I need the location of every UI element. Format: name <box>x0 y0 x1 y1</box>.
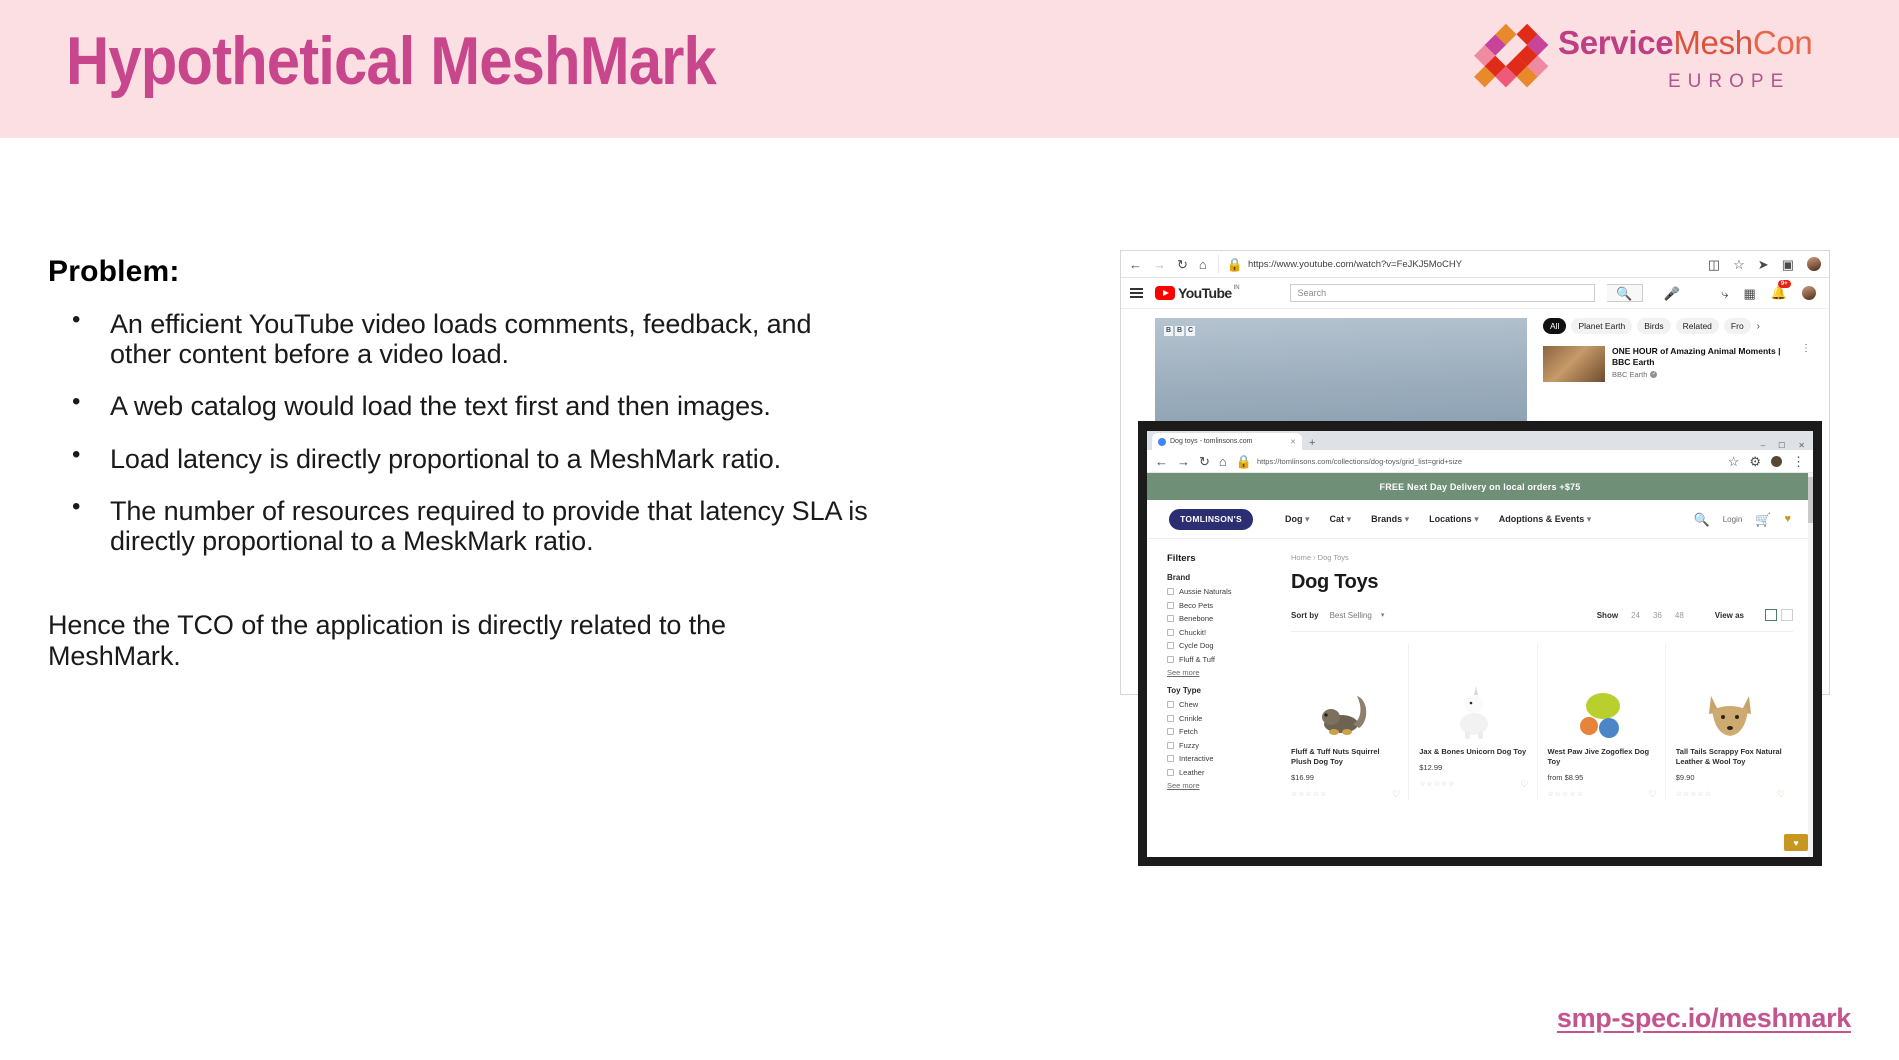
channel-name: BBC Earth <box>1612 370 1647 379</box>
checkbox[interactable] <box>1167 742 1174 749</box>
logo-text-service: Service <box>1558 24 1673 61</box>
youtube-play-icon <box>1155 286 1175 300</box>
show-option-24[interactable]: 24 <box>1631 611 1640 620</box>
see-more-brands-link[interactable]: See more <box>1167 668 1279 677</box>
product-price: $9.90 <box>1676 773 1785 782</box>
filter-label: Benebone <box>1179 614 1213 623</box>
grid-view-icon[interactable] <box>1765 609 1777 621</box>
chevron-down-icon: ▾ <box>1474 514 1479 524</box>
site-nav-actions: 🔍 Login 🛒 ♥ <box>1694 513 1791 526</box>
filter-label: Chew <box>1179 700 1198 709</box>
checkbox[interactable] <box>1167 728 1174 735</box>
video-meta: ONE HOUR of Amazing Animal Moments | BBC… <box>1612 346 1794 382</box>
chip-from[interactable]: Fro <box>1724 318 1751 334</box>
show-count-group: Show 24 36 48 View as <box>1597 609 1793 621</box>
filters-heading: Filters <box>1167 553 1279 564</box>
checkbox[interactable] <box>1167 642 1174 649</box>
checkbox[interactable] <box>1167 615 1174 622</box>
checkbox[interactable] <box>1167 602 1174 609</box>
browser-toolbar-actions: ◫ ☆ ➤ ▣ <box>1708 257 1821 271</box>
chip-planet-earth[interactable]: Planet Earth <box>1571 318 1632 334</box>
chevron-right-icon[interactable]: › <box>1757 321 1760 332</box>
youtube-logo[interactable]: YouTube IN <box>1155 285 1240 301</box>
address-bar-url: https://www.youtube.com/watch?v=FeJKJ5Mo… <box>1248 259 1462 270</box>
favorites-icon[interactable]: ➤ <box>1758 258 1769 271</box>
watermark-letter: B <box>1164 326 1173 336</box>
nav-item-brands[interactable]: Brands ▾ <box>1371 514 1409 525</box>
collections-icon[interactable]: ☆ <box>1733 258 1745 271</box>
filter-label: Fetch <box>1179 727 1198 736</box>
list-item: A web catalog would load the text first … <box>48 391 868 421</box>
nav-item-adoptions-events[interactable]: Adoptions & Events ▾ <box>1499 514 1592 525</box>
address-bar[interactable]: 🔒 https://www.youtube.com/watch?v=FeJKJ5… <box>1218 255 1697 273</box>
product-footer: ☆☆☆☆☆ ♡ <box>1291 789 1400 800</box>
filter-label: Cycle Dog <box>1179 641 1214 650</box>
browser-tab-strip: Dog toys - tomlinsons.com ✕ + – ☐ ✕ <box>1147 431 1813 450</box>
search-icon: 🔍 <box>1616 287 1632 300</box>
avatar[interactable] <box>1802 286 1816 300</box>
product-card[interactable]: West Paw Jive Zogoflex Dog Toy from $8.9… <box>1548 644 1666 800</box>
view-toggle-group <box>1765 609 1793 621</box>
wishlist-heart-icon[interactable]: ♡ <box>1649 789 1657 800</box>
reload-icon[interactable]: ↻ <box>1177 258 1188 271</box>
extensions-icon[interactable]: ⚙ <box>1749 455 1761 468</box>
nav-item-dog[interactable]: Dog ▾ <box>1285 514 1310 525</box>
filter-label: Interactive <box>1179 754 1214 763</box>
product-image <box>1291 644 1400 740</box>
sort-by-select[interactable]: Best Selling <box>1330 611 1372 620</box>
filter-label: Chuckit! <box>1179 628 1206 637</box>
logo-text-mesh: Mesh <box>1673 24 1753 61</box>
verified-badge-icon: ✓ <box>1650 371 1657 378</box>
lock-icon: 🔒 <box>1227 258 1243 271</box>
filter-option[interactable]: Cycle Dog <box>1167 641 1279 650</box>
list-item[interactable]: ONE HOUR of Amazing Animal Moments | BBC… <box>1543 346 1811 382</box>
extensions-icon[interactable]: ▣ <box>1782 258 1794 271</box>
new-tab-icon[interactable]: + <box>1309 437 1315 449</box>
list-item: An efficient YouTube video loads comment… <box>48 309 868 369</box>
product-footer: ☆☆☆☆☆ ♡ <box>1548 789 1657 800</box>
reload-icon[interactable]: ↻ <box>1199 455 1210 468</box>
checkbox[interactable] <box>1167 588 1174 595</box>
catalog-toolbar: Sort by Best Selling ▾ Show 24 36 48 Vie… <box>1291 609 1793 632</box>
nav-label: Cat <box>1330 514 1345 524</box>
filters-sidebar: Filters Brand Aussie Naturals Beco Pets … <box>1167 553 1279 800</box>
checkbox[interactable] <box>1167 656 1174 663</box>
checkbox[interactable] <box>1167 701 1174 708</box>
video-title: ONE HOUR of Amazing Animal Moments | BBC… <box>1612 346 1794 367</box>
tab-favicon-icon <box>1158 438 1166 446</box>
filter-chip-row: All Planet Earth Birds Related Fro › <box>1543 318 1811 334</box>
tomlinsons-browser-window: Dog toys - tomlinsons.com ✕ + – ☐ ✕ ← → … <box>1138 421 1822 866</box>
rating-stars-icon: ☆☆☆☆☆ <box>1676 790 1712 798</box>
filter-option[interactable]: Aussie Naturals <box>1167 587 1279 596</box>
squirrel-plush-toy-icon <box>1317 684 1375 740</box>
forward-icon[interactable]: → <box>1153 258 1166 271</box>
breadcrumb: Home › Dog Toys <box>1291 553 1793 562</box>
lock-icon: 🔒 <box>1236 455 1252 468</box>
filter-label: Beco Pets <box>1179 601 1213 610</box>
chevron-down-icon: ▾ <box>1405 514 1410 524</box>
back-icon[interactable]: ← <box>1155 455 1168 468</box>
unicorn-plush-toy-icon <box>1445 684 1503 740</box>
chip-related[interactable]: Related <box>1676 318 1719 334</box>
filter-label: Crinkle <box>1179 714 1202 723</box>
wishlist-floating-button[interactable]: ♥ <box>1784 834 1808 851</box>
bookmark-star-icon[interactable]: ☆ <box>1728 455 1740 468</box>
back-icon[interactable]: ← <box>1129 258 1142 271</box>
chevron-down-icon[interactable]: ▾ <box>1381 611 1385 619</box>
nav-label: Locations <box>1429 514 1472 524</box>
wishlist-heart-icon[interactable]: ♥ <box>1784 513 1791 525</box>
browser-tab[interactable]: Dog toys - tomlinsons.com ✕ <box>1152 433 1302 450</box>
profile-avatar[interactable] <box>1807 257 1821 271</box>
product-card[interactable]: Tall Tails Scrappy Fox Natural Leather &… <box>1676 644 1793 800</box>
sort-by-label: Sort by <box>1291 611 1319 620</box>
nav-items: Dog ▾ Cat ▾ Brands ▾ Locations ▾ Adoptio… <box>1285 514 1591 525</box>
filter-label: Fluff & Tuff <box>1179 655 1215 664</box>
nav-label: Brands <box>1371 514 1402 524</box>
filter-option[interactable]: Chew <box>1167 700 1279 709</box>
filter-option[interactable]: Leather <box>1167 768 1279 777</box>
scrollbar-thumb[interactable] <box>1808 477 1813 523</box>
youtube-account-actions: ⤷ ▦ 🔔 9+ <box>1721 284 1820 302</box>
catalog-title: Dog Toys <box>1291 571 1793 594</box>
product-name: Tall Tails Scrappy Fox Natural Leather &… <box>1676 747 1785 767</box>
logo-region-label: EUROPE <box>1668 71 1790 93</box>
chevron-down-icon: ▾ <box>1305 514 1310 524</box>
checkbox[interactable] <box>1167 715 1174 722</box>
tomlinsons-logo[interactable]: TOMLINSON'S <box>1169 509 1253 530</box>
filter-option[interactable]: Fuzzy <box>1167 741 1279 750</box>
browser-toolbar-actions: ☆ ⚙ ⋮ <box>1728 455 1805 468</box>
catalog-main: Home › Dog Toys Dog Toys Sort by Best Se… <box>1279 553 1793 800</box>
scrollbar[interactable] <box>1808 473 1813 857</box>
login-link[interactable]: Login <box>1723 515 1743 524</box>
filter-option[interactable]: Chuckit! <box>1167 628 1279 637</box>
split-screen-icon[interactable]: ◫ <box>1708 258 1720 271</box>
see-more-toytypes-link[interactable]: See more <box>1167 781 1279 790</box>
nav-label: Adoptions & Events <box>1499 514 1585 524</box>
product-card[interactable]: Jax & Bones Unicorn Dog Toy $12.99 ☆☆☆☆☆… <box>1419 644 1537 800</box>
product-name: Fluff & Tuff Nuts Squirrel Plush Dog Toy <box>1291 747 1400 767</box>
show-option-48[interactable]: 48 <box>1675 611 1684 620</box>
search-button[interactable]: 🔍 <box>1607 284 1643 302</box>
wishlist-heart-icon[interactable]: ♡ <box>1392 789 1400 800</box>
zogoflex-ball-toy-icon <box>1573 684 1631 740</box>
close-window-icon[interactable]: ✕ <box>1798 441 1805 450</box>
show-label: Show <box>1597 611 1618 620</box>
tomlinsons-browser-viewport: Dog toys - tomlinsons.com ✕ + – ☐ ✕ ← → … <box>1147 431 1813 857</box>
filter-label: Leather <box>1179 768 1204 777</box>
filter-option[interactable]: Crinkle <box>1167 714 1279 723</box>
product-name: Jax & Bones Unicorn Dog Toy <box>1419 747 1528 757</box>
profile-avatar[interactable] <box>1771 456 1782 467</box>
address-bar[interactable]: 🔒 https://tomlinsons.com/collections/dog… <box>1236 454 1719 469</box>
problem-bullet-list: An efficient YouTube video loads comment… <box>48 309 868 556</box>
minimize-icon[interactable]: – <box>1761 441 1765 450</box>
product-image <box>1676 644 1785 740</box>
browser-tab-title: Dog toys - tomlinsons.com <box>1170 438 1252 445</box>
list-item: Load latency is directly proportional to… <box>48 444 868 474</box>
voice-search-icon[interactable]: 🎤 <box>1664 287 1680 300</box>
window-controls: – ☐ ✕ <box>1761 441 1813 450</box>
chip-birds[interactable]: Birds <box>1637 318 1670 334</box>
bbc-watermark-icon: B B C <box>1164 326 1195 336</box>
product-price: $16.99 <box>1291 773 1400 782</box>
filter-group-toytype-title: Toy Type <box>1167 686 1279 695</box>
browser-menu-icon[interactable]: ⋮ <box>1792 455 1805 468</box>
search-icon[interactable]: 🔍 <box>1694 513 1710 526</box>
nav-item-locations[interactable]: Locations ▾ <box>1429 514 1479 525</box>
rating-stars-icon: ☆☆☆☆☆ <box>1548 790 1584 798</box>
product-footer: ☆☆☆☆☆ ♡ <box>1419 779 1528 790</box>
product-footer: ☆☆☆☆☆ ♡ <box>1676 789 1785 800</box>
cart-icon[interactable]: 🛒 <box>1755 513 1771 526</box>
watermark-letter: B <box>1175 326 1184 336</box>
product-image <box>1548 644 1657 740</box>
wishlist-heart-icon[interactable]: ♡ <box>1520 779 1528 790</box>
close-icon[interactable]: ✕ <box>1290 438 1296 446</box>
address-bar-url: https://tomlinsons.com/collections/dog-t… <box>1257 457 1462 466</box>
rating-stars-icon: ☆☆☆☆☆ <box>1419 780 1455 788</box>
chevron-down-icon: ▾ <box>1347 514 1352 524</box>
nav-item-cat[interactable]: Cat ▾ <box>1330 514 1352 525</box>
slide-body: Problem: An efficient YouTube video load… <box>48 255 868 671</box>
chip-all[interactable]: All <box>1543 318 1566 334</box>
rating-stars-icon: ☆☆☆☆☆ <box>1291 790 1327 798</box>
logo-wordmark: ServiceMeshCon <box>1558 24 1812 62</box>
servicemeshcon-logo: ServiceMeshCon EUROPE <box>1462 8 1882 120</box>
wishlist-heart-icon[interactable]: ♡ <box>1777 789 1785 800</box>
page-title: Hypothetical MeshMark <box>66 22 716 100</box>
product-image <box>1419 644 1528 740</box>
show-option-36[interactable]: 36 <box>1653 611 1662 620</box>
youtube-country-code: IN <box>1234 285 1240 291</box>
notifications-button[interactable]: 🔔 9+ <box>1771 284 1787 302</box>
checkbox[interactable] <box>1167 769 1174 776</box>
checkbox[interactable] <box>1167 755 1174 762</box>
hamburger-menu-icon[interactable] <box>1130 288 1143 298</box>
chevron-down-icon: ▾ <box>1587 514 1592 524</box>
site-navigation: TOMLINSON'S Dog ▾ Cat ▾ Brands ▾ Locatio… <box>1147 500 1813 539</box>
servicemeshcon-diamond-icon <box>1462 14 1554 100</box>
filter-option[interactable]: Beco Pets <box>1167 601 1279 610</box>
filter-label: Aussie Naturals <box>1179 587 1232 596</box>
filter-option[interactable]: Fetch <box>1167 727 1279 736</box>
home-icon[interactable]: ⌂ <box>1199 258 1207 271</box>
more-options-icon[interactable]: ⋮ <box>1801 346 1811 382</box>
list-view-icon[interactable] <box>1781 609 1793 621</box>
apps-grid-icon[interactable]: ▦ <box>1744 287 1756 300</box>
logo-text-con: Con <box>1753 24 1813 61</box>
product-name: West Paw Jive Zogoflex Dog Toy <box>1548 747 1657 767</box>
fox-leather-toy-icon <box>1701 684 1759 740</box>
create-video-icon[interactable]: ⤷ <box>1721 287 1728 300</box>
view-as-label: View as <box>1715 611 1744 620</box>
youtube-masthead: YouTube IN Search 🔍 🎤 ⤷ ▦ 🔔 9+ <box>1121 278 1829 309</box>
problem-heading: Problem: <box>48 255 868 289</box>
video-thumbnail <box>1543 346 1605 382</box>
checkbox[interactable] <box>1167 629 1174 636</box>
filter-option[interactable]: Interactive <box>1167 754 1279 763</box>
filter-option[interactable]: Benebone <box>1167 614 1279 623</box>
filter-group-brand-title: Brand <box>1167 573 1279 582</box>
meshmark-spec-link[interactable]: smp-spec.io/meshmark <box>1557 1003 1851 1034</box>
tomlinsons-browser-toolbar: ← → ↻ ⌂ 🔒 https://tomlinsons.com/collect… <box>1147 450 1813 473</box>
nav-label: Dog <box>1285 514 1303 524</box>
catalog-page: Filters Brand Aussie Naturals Beco Pets … <box>1147 539 1813 800</box>
filter-label: Fuzzy <box>1179 741 1199 750</box>
notification-count-badge: 9+ <box>1778 280 1791 288</box>
product-grid: Fluff & Tuff Nuts Squirrel Plush Dog Toy… <box>1291 644 1793 800</box>
promo-banner: FREE Next Day Delivery on local orders +… <box>1147 473 1813 500</box>
list-item: The number of resources required to prov… <box>48 496 868 556</box>
closing-paragraph: Hence the TCO of the application is dire… <box>48 610 808 670</box>
youtube-browser-toolbar: ← → ↻ ⌂ 🔒 https://www.youtube.com/watch?… <box>1121 251 1829 278</box>
maximize-icon[interactable]: ☐ <box>1778 441 1785 450</box>
product-card[interactable]: Fluff & Tuff Nuts Squirrel Plush Dog Toy… <box>1291 644 1409 800</box>
product-price: from $8.95 <box>1548 773 1657 782</box>
search-input[interactable]: Search <box>1290 284 1595 302</box>
watermark-letter: C <box>1186 326 1195 336</box>
filter-option[interactable]: Fluff & Tuff <box>1167 655 1279 664</box>
product-price: $12.99 <box>1419 763 1528 772</box>
search-placeholder: Search <box>1298 288 1327 298</box>
video-channel: BBC Earth ✓ <box>1612 370 1794 379</box>
youtube-wordmark: YouTube <box>1178 285 1232 301</box>
forward-icon[interactable]: → <box>1177 455 1190 468</box>
home-icon[interactable]: ⌂ <box>1219 455 1227 468</box>
